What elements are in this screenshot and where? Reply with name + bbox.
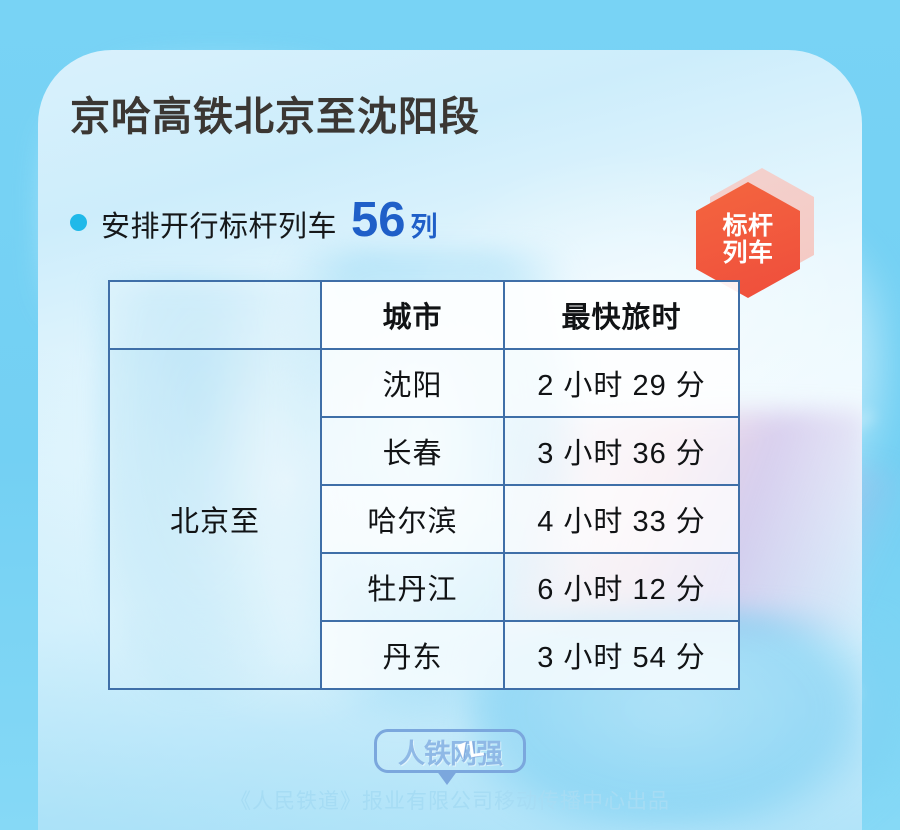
highlight-count: 56 xyxy=(351,196,406,245)
badge-label-line1: 标杆 xyxy=(722,213,773,240)
highlight-count-unit: 列 xyxy=(411,205,438,244)
table-header-blank xyxy=(109,281,321,349)
table-header-city: 城市 xyxy=(321,281,504,349)
publisher-logo: 人铁网强 xyxy=(374,729,526,773)
table-cell-time: 3 小时 54 分 xyxy=(504,621,739,689)
badge-label: 标杆 列车 xyxy=(722,213,773,267)
table-cell-city: 哈尔滨 xyxy=(321,485,504,553)
highlight-label: 安排开行标杆列车 xyxy=(101,203,337,245)
bullet-dot-icon xyxy=(70,214,87,231)
table-cell-time: 2 小时 29 分 xyxy=(504,349,739,417)
table-cell-city: 沈阳 xyxy=(321,349,504,417)
table-header-row: 城市 最快旅时 xyxy=(109,281,739,349)
infographic-canvas: 京哈高铁北京至沈阳段 安排开行标杆列车 56 列 标杆 列车 城市 最快旅时 xyxy=(0,0,900,830)
table-cell-city: 牡丹江 xyxy=(321,553,504,621)
table-row: 北京至 沈阳 2 小时 29 分 xyxy=(109,349,739,417)
footer-credit: 《人民铁道》报业有限公司移动传播中心出品 xyxy=(0,785,900,815)
table-cell-city: 丹东 xyxy=(321,621,504,689)
table-cell-time: 3 小时 36 分 xyxy=(504,417,739,485)
travel-time-table: 城市 最快旅时 北京至 沈阳 2 小时 29 分 长春 3 小时 36 分 哈尔… xyxy=(108,280,740,690)
table-header-time: 最快旅时 xyxy=(504,281,739,349)
logo-text: 人铁网强 xyxy=(374,729,526,773)
table-cell-city: 长春 xyxy=(321,417,504,485)
table-origin-cell: 北京至 xyxy=(109,349,321,689)
highlight-row: 安排开行标杆列车 56 列 xyxy=(70,196,438,245)
badge-label-line2: 列车 xyxy=(722,240,773,267)
table-cell-time: 6 小时 12 分 xyxy=(504,553,739,621)
badge: 标杆 列车 xyxy=(688,166,828,296)
table-cell-time: 4 小时 33 分 xyxy=(504,485,739,553)
page-title: 京哈高铁北京至沈阳段 xyxy=(70,95,480,139)
